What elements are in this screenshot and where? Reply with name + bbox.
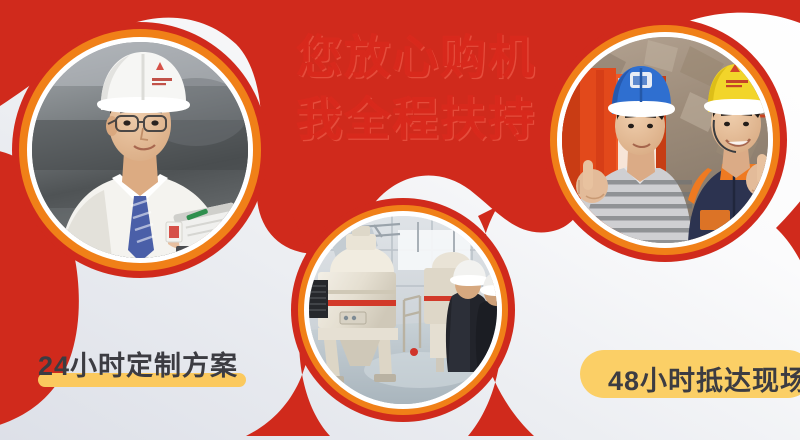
photo-circle-engineer xyxy=(12,22,268,278)
photo-circle-factory xyxy=(291,198,515,422)
headline-line-2: 我全程扶持 xyxy=(296,96,536,142)
label-24h-custom-plan: 24小时定制方案 xyxy=(38,344,253,390)
label-24h-custom-plan-text: 24小时定制方案 xyxy=(38,344,253,383)
promo-banner: 您放心购机 我全程扶持 24小时定制方案 48小时抵达现场 xyxy=(0,0,800,440)
photo-circle-workers xyxy=(543,18,787,262)
headline-line-1: 您放心购机 xyxy=(296,34,536,80)
label-48h-onsite-text: 48小时抵达现场 xyxy=(608,359,800,398)
label-48h-onsite: 48小时抵达现场 xyxy=(580,350,800,398)
headline: 您放心购机 我全程扶持 xyxy=(296,34,536,142)
chest-badge xyxy=(166,222,182,242)
